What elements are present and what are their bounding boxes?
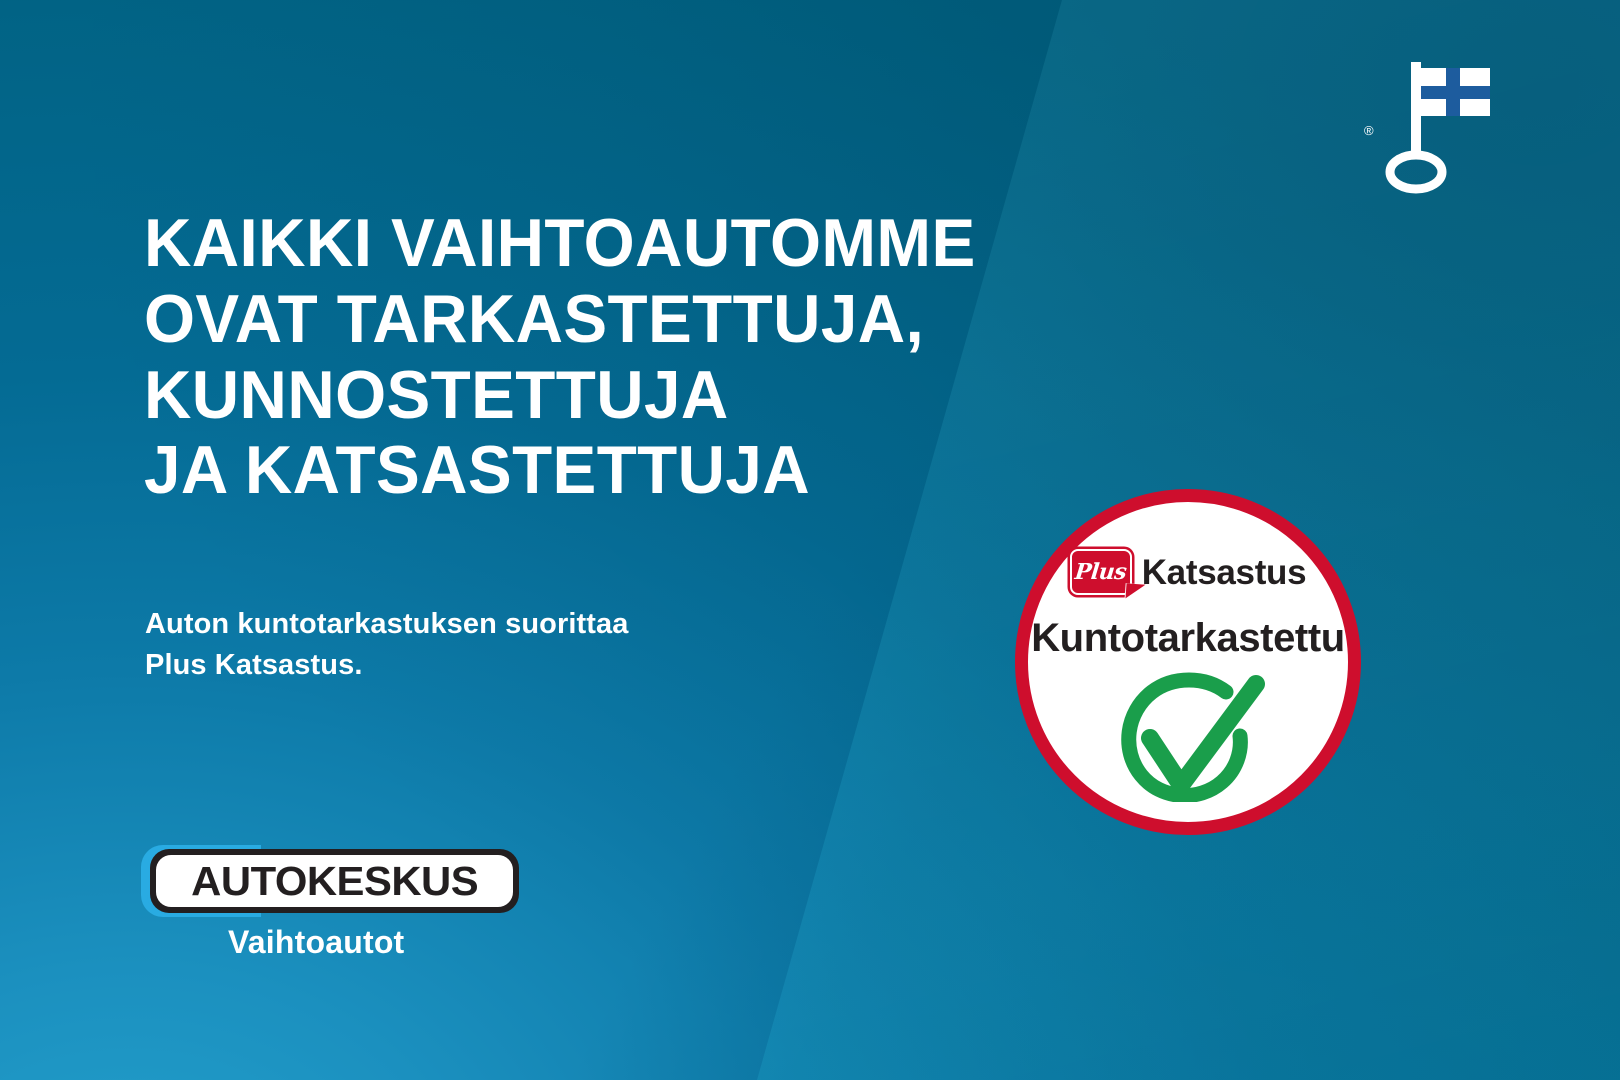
green-check-icon [1093, 672, 1283, 802]
plus-logo-chip: Plus [1070, 549, 1132, 595]
background-vignette [0, 0, 1620, 1080]
headline-line-3: KUNNOSTETTUJA [144, 358, 1157, 434]
logo-white-plate: AUTOKESKUS [156, 855, 513, 907]
page-title: KAIKKI VAIHTOAUTOMME OVAT TARKASTETTUJA,… [144, 206, 1157, 509]
autokeskus-logo: AUTOKESKUS [141, 845, 519, 917]
badge-company-name: Katsastus [1142, 555, 1307, 590]
badge-brand-row: Plus Katsastus [1070, 548, 1307, 596]
plus-chip-label: Plus [1074, 561, 1128, 583]
subheading-line-2: Plus Katsastus. [145, 645, 629, 686]
subheading: Auton kuntotarkastuksen suorittaa Plus K… [145, 604, 629, 686]
headline-line-4: JA KATSASTETTUJA [144, 433, 1157, 509]
plus-chip-tail [1125, 583, 1145, 599]
badge-claim: Kuntotarkastettu [1031, 618, 1345, 658]
banner-canvas: ® KAIKKI VAIHTOAUTOMME OVAT TARKASTETTUJ… [0, 0, 1620, 1080]
logo-wordmark: AUTOKESKUS [191, 861, 478, 902]
finnish-flag-key-icon: ® [1378, 58, 1488, 193]
subheading-line-1: Auton kuntotarkastuksen suorittaa [145, 604, 629, 645]
registered-trademark-icon: ® [1364, 124, 1374, 137]
headline-line-2: OVAT TARKASTETTUJA, [144, 282, 1157, 358]
logo-subline: Vaihtoautot [228, 924, 404, 961]
status-badge: Plus Katsastus Kuntotarkastettu [1015, 489, 1361, 835]
headline-line-1: KAIKKI VAIHTOAUTOMME [144, 206, 1157, 282]
